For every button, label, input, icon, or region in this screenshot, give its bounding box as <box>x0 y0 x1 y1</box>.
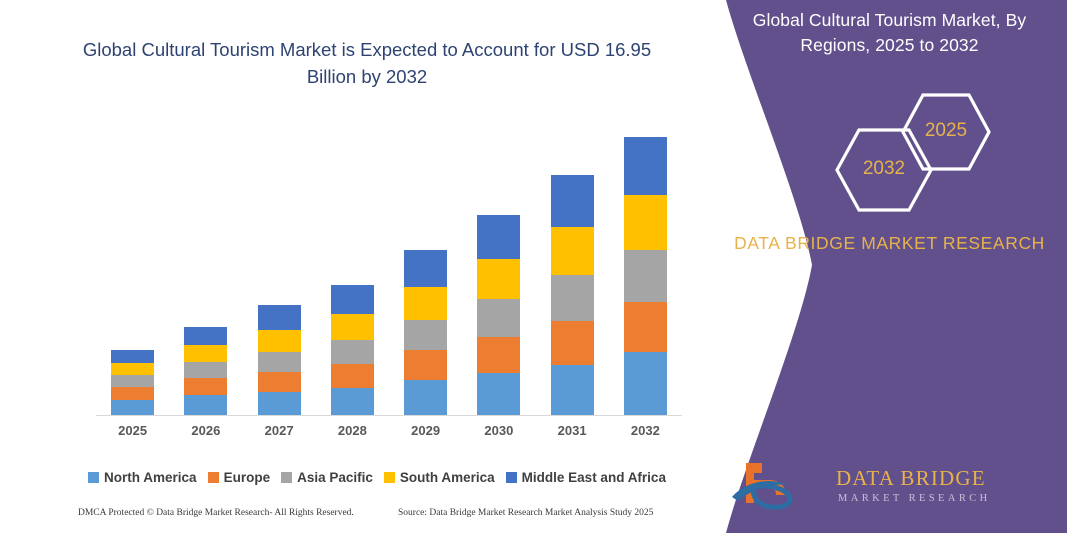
x-tick-2027: 2027 <box>244 423 314 438</box>
legend-swatch-icon <box>506 472 517 483</box>
legend-item-europe[interactable]: Europe <box>208 470 271 485</box>
bar-column-2029[interactable] <box>404 250 447 415</box>
x-tick-2029: 2029 <box>391 423 461 438</box>
bar-segment <box>404 320 447 350</box>
bar-segment <box>477 259 520 299</box>
bar-segment <box>477 337 520 373</box>
bar-segment <box>624 250 667 302</box>
bar-segment <box>624 137 667 195</box>
hexagon-badge-group: 2032 2025 <box>812 92 1052 202</box>
bar-segment <box>404 287 447 320</box>
bar-segment <box>551 227 594 275</box>
legend-swatch-icon <box>384 472 395 483</box>
bar-segment <box>477 373 520 415</box>
bar-segment <box>551 275 594 321</box>
bar-column-2031[interactable] <box>551 175 594 415</box>
bar-segment <box>111 363 154 375</box>
footer: DMCA Protected © Data Bridge Market Rese… <box>78 508 682 524</box>
bar-segment <box>184 378 227 395</box>
legend-label: Asia Pacific <box>297 470 373 485</box>
logo-primary-text: DATA BRIDGE <box>836 466 986 490</box>
bar-segment <box>551 321 594 365</box>
bar-segment <box>404 250 447 287</box>
x-tick-2025: 2025 <box>98 423 168 438</box>
page-title: Global Cultural Tourism Market is Expect… <box>72 36 662 90</box>
x-axis-line <box>96 415 682 417</box>
bar-segment <box>551 175 594 227</box>
data-bridge-logo: DATA BRIDGE MARKET RESEARCH <box>724 459 1054 511</box>
bar-segment <box>331 285 374 314</box>
legend-swatch-icon <box>208 472 219 483</box>
bar-column-2026[interactable] <box>184 327 227 415</box>
bar-column-2028[interactable] <box>331 285 374 415</box>
bar-segment <box>258 305 301 330</box>
bar-segment <box>258 372 301 392</box>
bar-segment <box>331 388 374 415</box>
legend-item-middle-east-and-africa[interactable]: Middle East and Africa <box>506 470 666 485</box>
bar-segment <box>184 362 227 378</box>
brand-name: DATA BRIDGE MARKET RESEARCH <box>722 230 1057 257</box>
bar-segment <box>111 375 154 387</box>
x-tick-2026: 2026 <box>171 423 241 438</box>
legend-item-north-america[interactable]: North America <box>88 470 197 485</box>
bar-segment <box>331 314 374 340</box>
footer-source: Source: Data Bridge Market Research Mark… <box>398 508 653 518</box>
bar-segment <box>111 400 154 415</box>
hexagon-badge-2025: 2025 <box>900 92 992 172</box>
bar-segment <box>624 352 667 415</box>
bar-segment <box>331 364 374 388</box>
bar-column-2032[interactable] <box>624 137 667 415</box>
bar-segment <box>331 340 374 364</box>
hexagon-label-2025: 2025 <box>900 120 992 142</box>
legend-item-south-america[interactable]: South America <box>384 470 495 485</box>
bar-segment <box>624 302 667 352</box>
legend-swatch-icon <box>88 472 99 483</box>
bar-segment <box>184 395 227 415</box>
bar-segment <box>477 215 520 259</box>
bar-segment <box>184 345 227 362</box>
legend-label: Middle East and Africa <box>522 470 666 485</box>
legend-label: Europe <box>224 470 271 485</box>
x-tick-2030: 2030 <box>464 423 534 438</box>
legend-item-asia-pacific[interactable]: Asia Pacific <box>281 470 373 485</box>
bar-segment <box>477 299 520 337</box>
bar-segment <box>404 380 447 415</box>
bar-column-2027[interactable] <box>258 305 301 415</box>
x-tick-2031: 2031 <box>537 423 607 438</box>
x-tick-2028: 2028 <box>317 423 387 438</box>
bar-segment <box>111 387 154 400</box>
panel-title: Global Cultural Tourism Market, By Regio… <box>722 8 1057 58</box>
legend-label: South America <box>400 470 495 485</box>
logo-secondary-text: MARKET RESEARCH <box>838 493 991 504</box>
footer-copyright: DMCA Protected © Data Bridge Market Rese… <box>78 508 354 518</box>
x-tick-2032: 2032 <box>610 423 680 438</box>
bar-segment <box>111 350 154 363</box>
bar-segment <box>404 350 447 380</box>
legend-swatch-icon <box>281 472 292 483</box>
bar-segment <box>551 365 594 415</box>
chart-legend: North AmericaEuropeAsia PacificSouth Ame… <box>72 470 682 485</box>
bar-segment <box>258 330 301 352</box>
bar-segment <box>258 352 301 372</box>
legend-label: North America <box>104 470 197 485</box>
bar-segment <box>184 327 227 345</box>
x-axis-labels: 20252026202720282029203020312032 <box>96 423 682 441</box>
bar-column-2025[interactable] <box>111 350 154 415</box>
panel-content: Global Cultural Tourism Market, By Regio… <box>712 0 1067 533</box>
bar-column-2030[interactable] <box>477 215 520 415</box>
bar-segment <box>624 195 667 250</box>
stacked-bar-chart <box>96 120 682 416</box>
bar-segment <box>258 392 301 415</box>
